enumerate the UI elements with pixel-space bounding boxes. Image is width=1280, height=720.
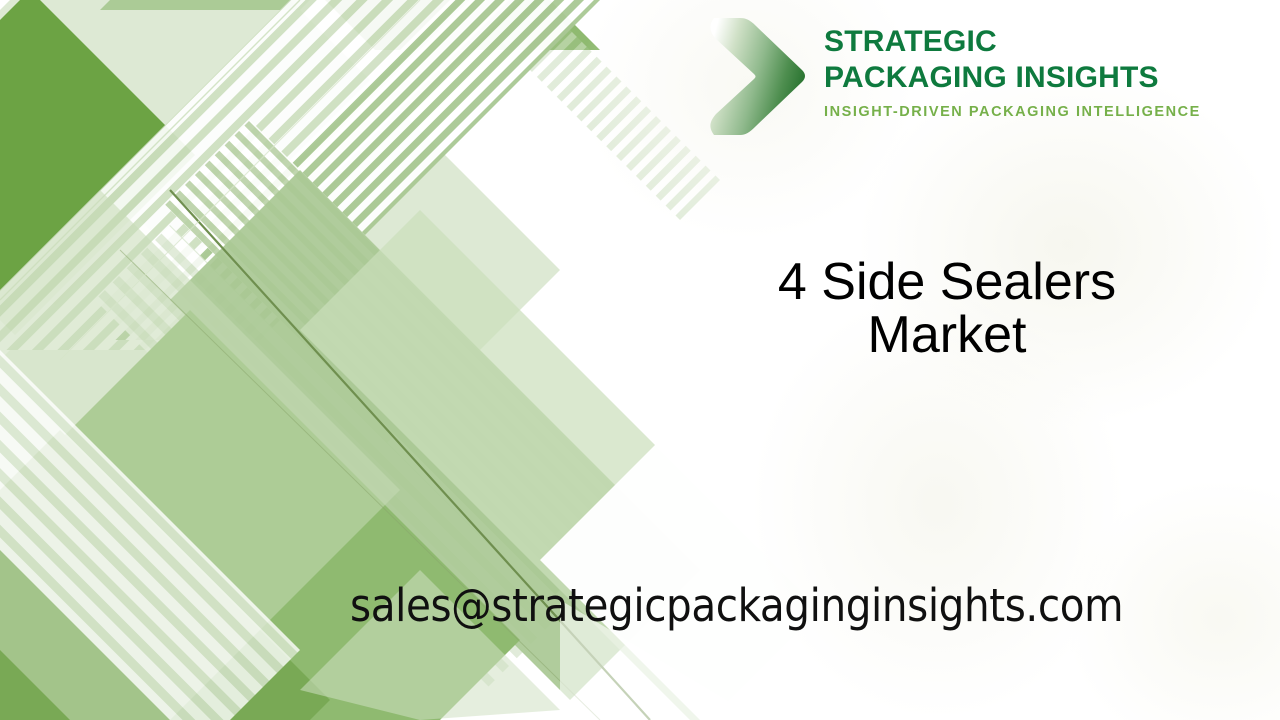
logo-wordmark: STRATEGIC PACKAGING INSIGHTS INSIGHT-DRI… (824, 12, 1201, 120)
chevron-arrow-icon (706, 14, 810, 138)
title-slide: STRATEGIC PACKAGING INSIGHTS INSIGHT-DRI… (0, 0, 1280, 720)
company-logo: STRATEGIC PACKAGING INSIGHTS INSIGHT-DRI… (706, 12, 1226, 144)
logo-tagline: INSIGHT-DRIVEN PACKAGING INTELLIGENCE (824, 104, 1201, 120)
page-title: 4 Side Sealers Market (640, 256, 1254, 362)
contact-email[interactable]: sales@strategicpackaginginsights.com (350, 578, 1123, 634)
wordmark-line-2: PACKAGING INSIGHTS (824, 60, 1201, 96)
wordmark-line-1: STRATEGIC (824, 24, 1201, 60)
bg-band-pale-primary (0, 0, 560, 540)
